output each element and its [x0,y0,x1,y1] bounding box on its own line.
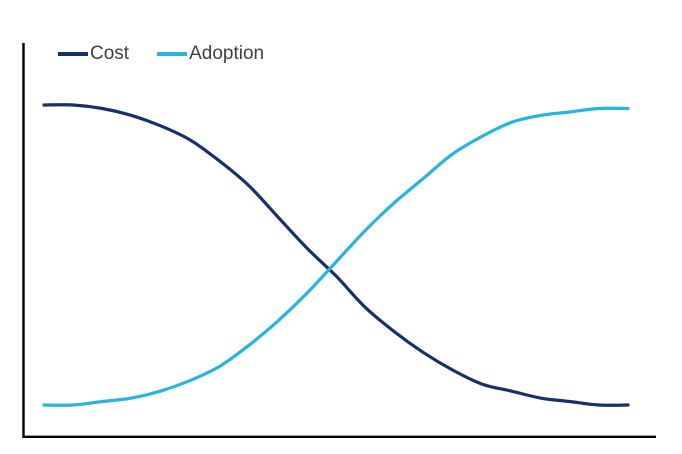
series-line-adoption [44,108,628,405]
series-group [44,105,628,406]
legend-label-adoption: Adoption [189,44,264,64]
legend-item-cost[interactable]: Cost [58,44,129,64]
axes-group [23,43,657,438]
chart-legend: Cost Adoption [58,44,264,64]
legend-label-cost: Cost [90,44,129,64]
series-line-cost [44,105,628,406]
line-swatch-icon [157,52,187,56]
line-swatch-icon [58,52,88,56]
legend-item-adoption[interactable]: Adoption [157,44,264,64]
chart-container: Cost Adoption [0,0,682,454]
chart-plot-area [0,0,682,454]
